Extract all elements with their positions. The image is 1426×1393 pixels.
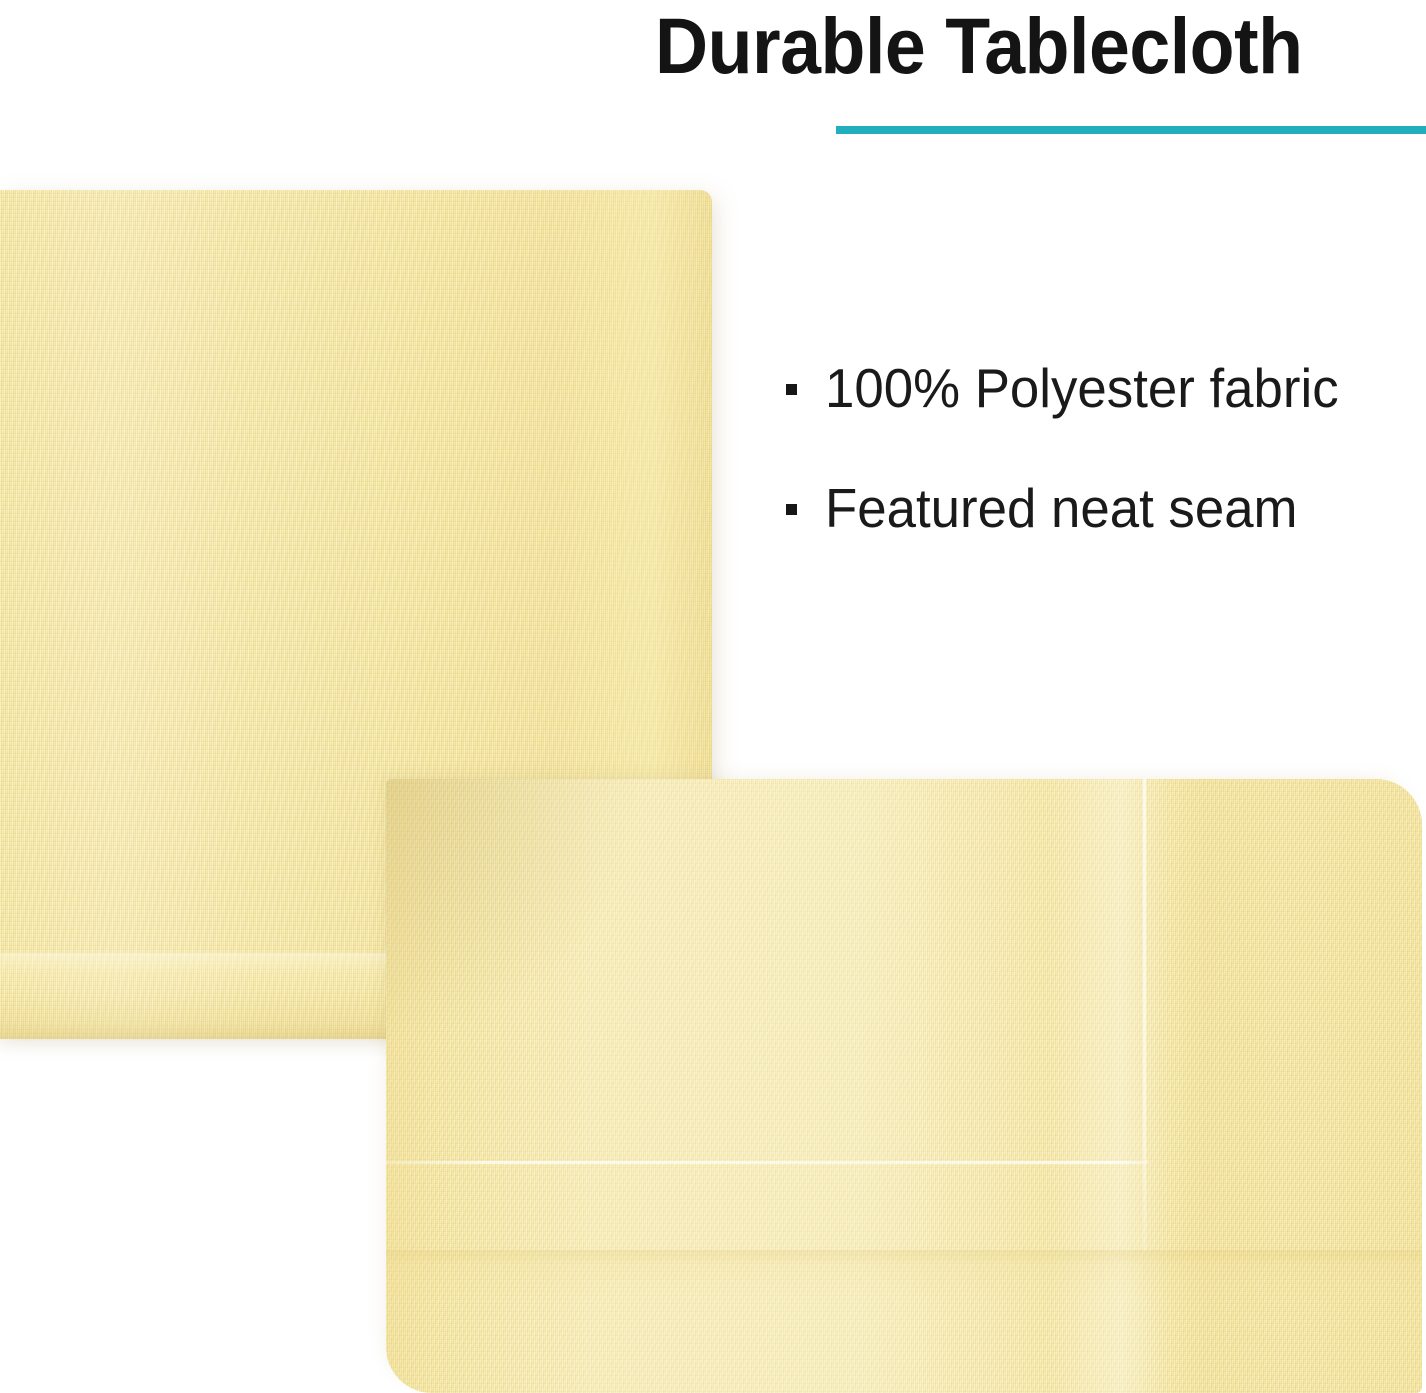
fabric-apron-fold: [386, 1250, 1422, 1393]
feature-list: 100% Polyester fabric Featured neat seam: [786, 352, 1426, 592]
page-title: Durable Tablecloth: [655, 2, 1376, 90]
square-bullet-icon: [786, 504, 797, 515]
feature-label: 100% Polyester fabric: [825, 356, 1339, 420]
fabric-sheen-highlight: [386, 779, 1422, 1393]
list-item: 100% Polyester fabric: [786, 352, 1426, 424]
title-accent-rule: [836, 126, 1426, 134]
square-bullet-icon: [786, 384, 797, 395]
feature-label: Featured neat seam: [825, 476, 1298, 540]
hem-seam-vertical: [1143, 779, 1146, 1251]
hem-seam-horizontal: [386, 1161, 1149, 1164]
fabric-twill-texture: [386, 779, 1422, 1393]
list-item: Featured neat seam: [786, 472, 1426, 544]
product-infographic: Durable Tablecloth 100% Polyester fabric…: [0, 0, 1426, 1393]
fabric-swatch-lower: [386, 779, 1422, 1393]
fabric-corner-shadow: [386, 779, 636, 1069]
